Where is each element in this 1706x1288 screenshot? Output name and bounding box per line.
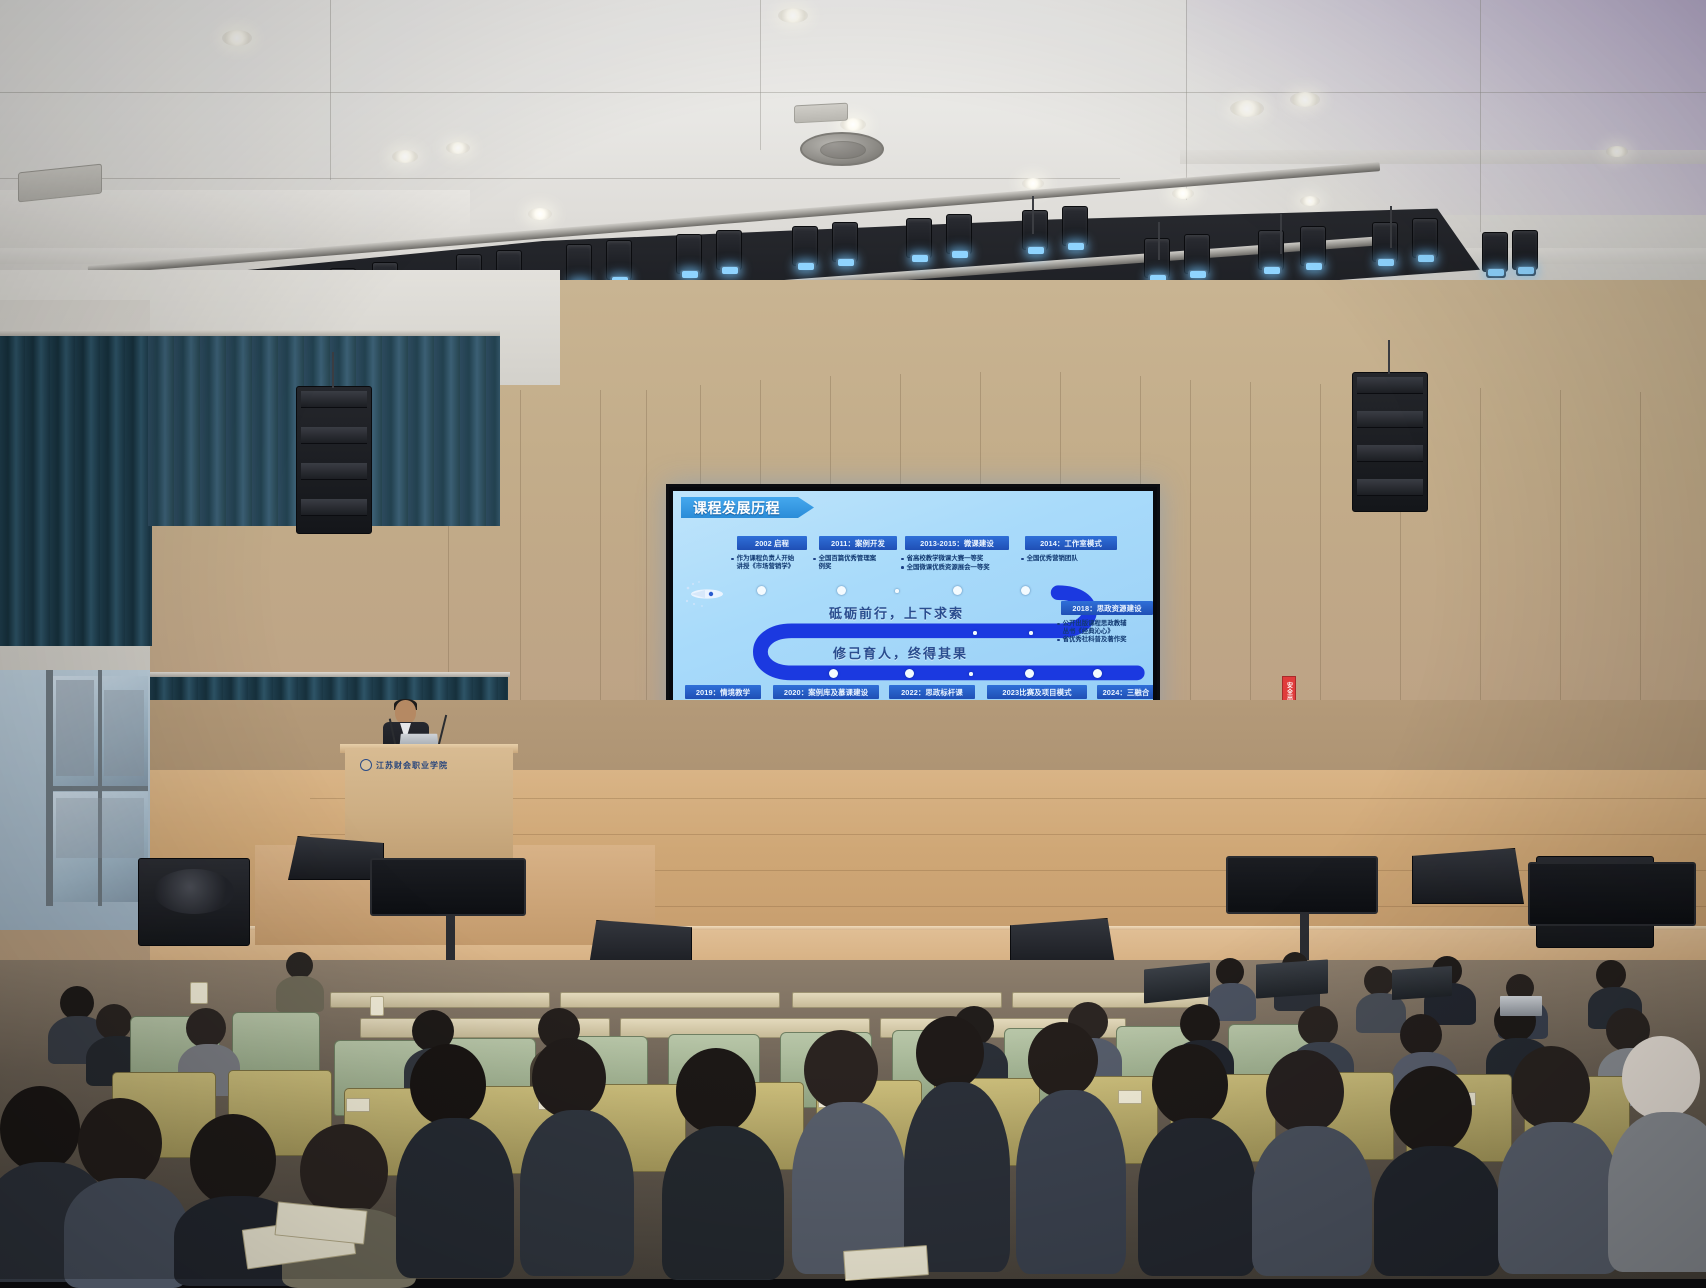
rocket-icon bbox=[685, 579, 719, 603]
milestone-year-label: 2024：三融合 bbox=[1103, 687, 1150, 698]
stage-spotlight bbox=[1022, 210, 1048, 250]
ceiling-downlight bbox=[1022, 178, 1044, 189]
milestone-year-label: 2011：案例开发 bbox=[831, 538, 885, 549]
milestone-year-box: 2019：情境教学 bbox=[685, 685, 761, 699]
timeline-node bbox=[1093, 669, 1102, 678]
stage-spotlight bbox=[1412, 218, 1438, 258]
milestone-year-box: 2020：案例库及慕课建设 bbox=[773, 685, 879, 699]
milestone-year-label: 2018：思政资源建设 bbox=[1072, 603, 1141, 614]
timeline-node bbox=[1021, 586, 1030, 595]
milestone-year-box: 2011：案例开发 bbox=[819, 536, 897, 550]
ceiling-seam bbox=[1480, 0, 1481, 232]
line-array-speaker-right bbox=[1352, 372, 1428, 512]
stage-spotlight bbox=[566, 244, 592, 284]
bullet-dot bbox=[1021, 558, 1024, 561]
bullet-dot bbox=[1057, 623, 1060, 626]
ceiling-downlight bbox=[1230, 100, 1264, 117]
slide-slogan-upper: 砥砺前行，上下求索 bbox=[829, 603, 964, 622]
printed-handout bbox=[843, 1245, 929, 1281]
auditorium-photo: 安全出口 疏散通道 禁止吸烟 课程发展历程 bbox=[0, 0, 1706, 1279]
bullet-dot bbox=[731, 558, 734, 561]
audience-laptop bbox=[1256, 959, 1328, 998]
timeline-node bbox=[837, 586, 846, 595]
water-cup bbox=[370, 996, 384, 1016]
stage-spotlight bbox=[1512, 230, 1538, 270]
ceiling-air-vent bbox=[794, 103, 848, 124]
bullet-dot bbox=[1057, 639, 1060, 642]
podium-institution-plaque: 江苏财会职业学院 bbox=[360, 758, 500, 772]
timeline-node bbox=[953, 586, 962, 595]
ceiling-downlight bbox=[222, 30, 252, 46]
bullet-dot bbox=[901, 558, 904, 561]
bullet-text: 省高校教学微课大赛一等奖 bbox=[907, 555, 984, 563]
audience-laptop bbox=[1500, 996, 1542, 1016]
stage-spotlight bbox=[1372, 222, 1398, 262]
ceiling-downlight bbox=[1300, 196, 1320, 206]
milestone-year-box: 2022：思政标杆课 bbox=[889, 685, 975, 699]
rigging-wire bbox=[1032, 196, 1034, 234]
timeline-node bbox=[969, 672, 973, 676]
ceiling-downlight bbox=[528, 208, 552, 220]
milestone-year-label: 2023比赛及项目模式 bbox=[1002, 687, 1071, 698]
institution-name: 江苏财会职业学院 bbox=[376, 760, 448, 771]
stage-monitor-wedge-far-right bbox=[1412, 848, 1524, 904]
seat-desk bbox=[330, 992, 550, 1008]
confidence-monitor-left bbox=[370, 858, 526, 916]
bullet-dot bbox=[901, 566, 904, 569]
stage-spotlight bbox=[946, 214, 972, 254]
ceiling-downlight bbox=[1172, 188, 1194, 199]
ceiling-fan-unit bbox=[800, 132, 884, 166]
milestone-year-box: 2013-2015：微课建设 bbox=[905, 536, 1009, 550]
confidence-monitor-right bbox=[1226, 856, 1378, 914]
building-outside-window bbox=[104, 690, 144, 776]
confidence-monitor-far-right bbox=[1528, 862, 1696, 926]
ceiling-seam bbox=[760, 0, 761, 150]
presenter-head bbox=[395, 700, 416, 724]
institution-seal-icon bbox=[360, 759, 372, 771]
milestone-bullets: 公开出版课程思政教辅 丛书《经典沁心》 省优秀社科普及著作奖 bbox=[1057, 620, 1153, 645]
timeline-node bbox=[757, 586, 766, 595]
window-mullion bbox=[46, 786, 148, 791]
milestone-bullets: 全国百篇优秀管理案 例奖 bbox=[813, 555, 899, 571]
stage-spotlight bbox=[606, 240, 632, 280]
stage-spotlight bbox=[906, 218, 932, 258]
stage-spotlight bbox=[792, 226, 818, 266]
timeline-node bbox=[905, 669, 914, 678]
seat-number-tag bbox=[346, 1098, 370, 1112]
stage-curtain-left bbox=[0, 336, 152, 646]
stage-spotlight bbox=[1482, 232, 1508, 272]
stage-spotlight bbox=[676, 234, 702, 274]
seat-desk bbox=[560, 992, 780, 1008]
milestone-bullets: 省高校教学微课大赛一等奖 全国微课优质资源展会一等奖 bbox=[901, 555, 1013, 572]
ceiling-downlight bbox=[446, 142, 470, 154]
milestone-bullets: 全国优秀营销团队 bbox=[1021, 555, 1119, 564]
audience-laptop bbox=[1144, 963, 1210, 1004]
ceiling-seam bbox=[0, 92, 1706, 93]
timeline-node bbox=[1025, 669, 1034, 678]
seat-number-tag bbox=[1118, 1090, 1142, 1104]
ceiling-seam bbox=[1186, 0, 1187, 200]
stage-spotlight bbox=[1062, 206, 1088, 246]
ceiling-seam bbox=[330, 0, 331, 180]
rigging-wire bbox=[1390, 206, 1392, 248]
timeline-node bbox=[1029, 631, 1033, 635]
ceiling-downlight bbox=[778, 8, 808, 23]
bullet-text: 全国百篇优秀管理案 例奖 bbox=[819, 555, 877, 570]
milestone-year-label: 2020：案例库及慕课建设 bbox=[784, 687, 868, 698]
milestone-year-box: 2018：思政资源建设 bbox=[1061, 601, 1153, 615]
milestone-bullets: 作为课程负责人开始 讲授《市场营销学》 bbox=[731, 555, 815, 571]
rigging-wire bbox=[1388, 340, 1390, 374]
building-outside-window bbox=[56, 798, 144, 858]
milestone-year-box: 2023比赛及项目模式 bbox=[987, 685, 1087, 699]
ceiling-downlight bbox=[1290, 92, 1320, 107]
milestone-year-box: 2024：三融合 bbox=[1097, 685, 1153, 699]
milestone-year-box: 2014：工作室模式 bbox=[1025, 536, 1117, 550]
building-outside-window bbox=[56, 680, 94, 776]
stage-spotlight bbox=[1184, 234, 1210, 274]
bullet-text: 作为课程负责人开始 讲授《市场营销学》 bbox=[737, 555, 795, 570]
bullet-text: 省优秀社科普及著作奖 bbox=[1063, 636, 1127, 644]
ceiling-color-wash bbox=[1186, 0, 1706, 215]
stage-spotlight bbox=[716, 230, 742, 270]
milestone-year-label: 2002 启程 bbox=[755, 538, 789, 549]
milestone-year-label: 2019：情境教学 bbox=[696, 687, 750, 698]
bullet-text: 全国优秀营销团队 bbox=[1027, 555, 1078, 563]
timeline-node bbox=[973, 631, 977, 635]
stage-spotlight bbox=[1144, 238, 1170, 278]
rigging-wire bbox=[332, 352, 334, 388]
subwoofer-left bbox=[138, 858, 250, 946]
bullet-text: 全国微课优质资源展会一等奖 bbox=[907, 564, 990, 572]
timeline-node bbox=[895, 589, 899, 593]
milestone-year-label: 2022：思政标杆课 bbox=[901, 687, 963, 698]
curtain-rail bbox=[148, 672, 510, 677]
milestone-year-box: 2002 启程 bbox=[737, 536, 807, 550]
rigging-wire bbox=[1158, 222, 1160, 260]
milestone-year-label: 2013-2015：微课建设 bbox=[920, 538, 994, 549]
stage-spotlight bbox=[1300, 226, 1326, 266]
rigging-wire bbox=[1280, 214, 1282, 254]
water-cup bbox=[190, 982, 208, 1004]
milestone-year-label: 2014：工作室模式 bbox=[1040, 538, 1102, 549]
ceiling-downlight bbox=[392, 150, 418, 163]
line-array-speaker-left bbox=[296, 386, 372, 534]
ceiling-downlight bbox=[1606, 146, 1628, 157]
bullet-dot bbox=[813, 558, 816, 561]
slide-slogan-lower: 修己育人，终得其果 bbox=[833, 643, 968, 662]
bullet-text: 公开出版课程思政教辅 丛书《经典沁心》 bbox=[1063, 620, 1127, 635]
ceiling-seam bbox=[0, 178, 1120, 179]
stage-spotlight bbox=[832, 222, 858, 262]
timeline-node bbox=[829, 669, 838, 678]
audience-laptop bbox=[1392, 966, 1452, 1000]
